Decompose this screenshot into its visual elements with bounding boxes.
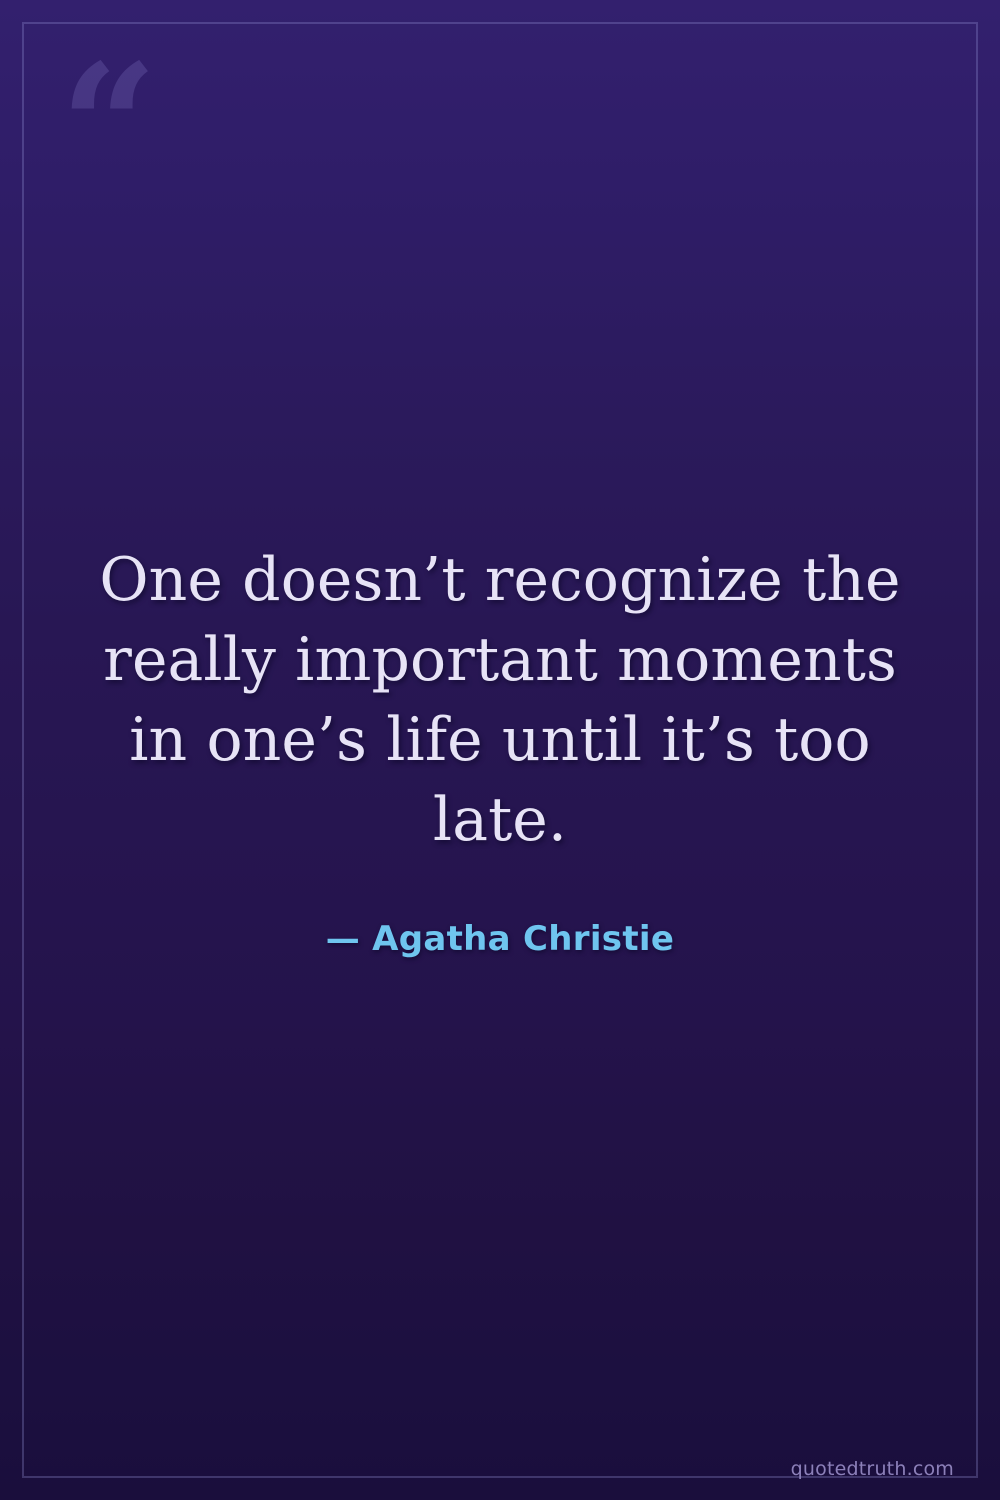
attribution-author: Agatha Christie bbox=[372, 919, 674, 959]
quote-content: One doesn’t recognize the really importa… bbox=[0, 0, 1000, 1500]
attribution-dash: — bbox=[326, 919, 360, 959]
quote-card: “ One doesn’t recognize the really impor… bbox=[0, 0, 1000, 1500]
site-watermark: quotedtruth.com bbox=[791, 1458, 954, 1480]
quote-text: One doesn’t recognize the really importa… bbox=[85, 541, 915, 860]
quote-attribution: —Agatha Christie bbox=[326, 919, 674, 959]
